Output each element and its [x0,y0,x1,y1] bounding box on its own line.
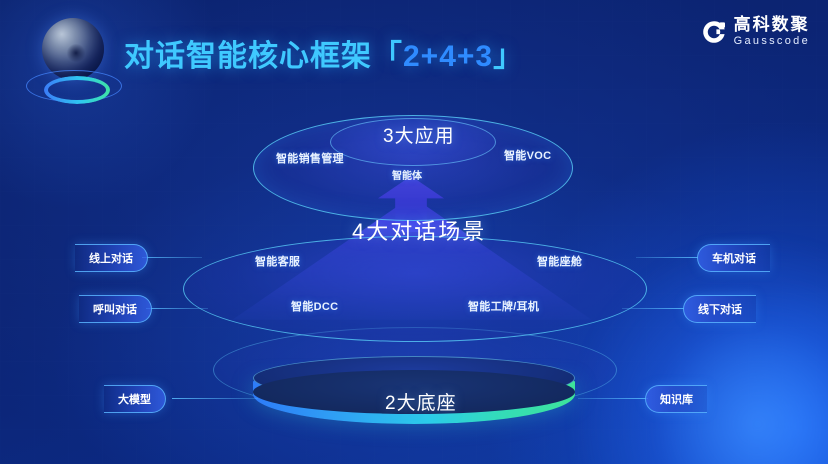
connector-line-left-3 [172,398,258,399]
label-agent: 智能体 [392,167,422,182]
label-intelligent-sales-management: 智能销售管理 [276,150,344,166]
connector-line-right-2 [622,308,684,309]
label-intelligent-voc: 智能VOC [504,147,551,163]
connector-line-right-1 [636,257,698,258]
label-intelligent-customer-service: 智能客服 [255,253,300,269]
tag-vehicle-dialogue[interactable]: 车机对话 [697,244,770,272]
tag-knowledge-base[interactable]: 知识库 [645,385,707,413]
connector-line-left-2 [146,308,208,309]
label-intelligent-dcc: 智能DCC [291,298,338,314]
layer-base-title: 2大底座 [385,388,457,415]
tag-call-dialogue[interactable]: 呼叫对话 [79,295,152,323]
layer-middle-ellipse [183,236,647,342]
connector-line-right-3 [578,398,648,399]
tag-large-model[interactable]: 大模型 [104,385,166,413]
connector-line-left-1 [142,257,202,258]
layer-middle-title: 4大对话场景 [352,214,486,246]
architecture-diagram: 3大应用 智能销售管理 智能VOC 智能体 4大对话场景 智能客服 智能座舱 智… [0,0,828,464]
label-intelligent-badge-headset: 智能工牌/耳机 [468,298,539,314]
layer-top-title: 3大应用 [383,121,455,148]
tag-online-dialogue[interactable]: 线上对话 [75,244,148,272]
slide-canvas: 对话智能核心框架「2+4+3」 高科数聚 Gausscode [0,0,828,464]
tag-offline-dialogue[interactable]: 线下对话 [683,295,756,323]
label-intelligent-cockpit: 智能座舱 [537,253,582,269]
